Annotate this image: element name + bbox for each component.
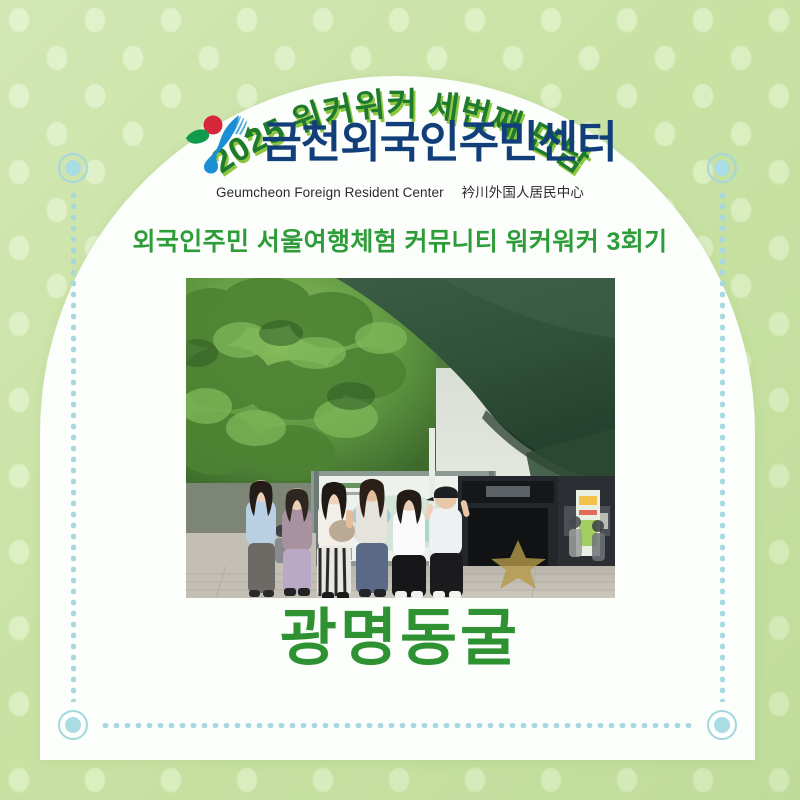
dotted-line-bottom bbox=[100, 723, 692, 728]
ring-bottom-left bbox=[58, 710, 88, 740]
poster-root: 2025 워커워커 세번째 만남 2025 워커워커 세번째 만남 금천외 bbox=[0, 0, 800, 800]
logo-subtitle: Geumcheon Foreign Resident Center 衿川外国人居… bbox=[216, 181, 584, 201]
program-subtitle: 외국인주민 서울여행체험 커뮤니티 워커워커 3회기 bbox=[0, 222, 800, 258]
event-photo-image bbox=[186, 278, 615, 598]
logo-name-chinese: 衿川外国人居民中心 bbox=[462, 185, 584, 200]
ring-bottom-right bbox=[707, 710, 737, 740]
logo-row: 금천외국인주민센터 bbox=[183, 112, 616, 174]
organization-logo: 금천외국인주민센터 Geumcheon Foreign Resident Cen… bbox=[0, 112, 800, 201]
event-photo bbox=[186, 278, 615, 598]
logo-name-korean: 금천외국인주민센터 bbox=[261, 121, 616, 165]
person-swoosh-logo-icon bbox=[183, 112, 249, 174]
logo-name-english: Geumcheon Foreign Resident Center bbox=[216, 185, 444, 200]
destination-title: 광명동굴 bbox=[0, 606, 800, 671]
